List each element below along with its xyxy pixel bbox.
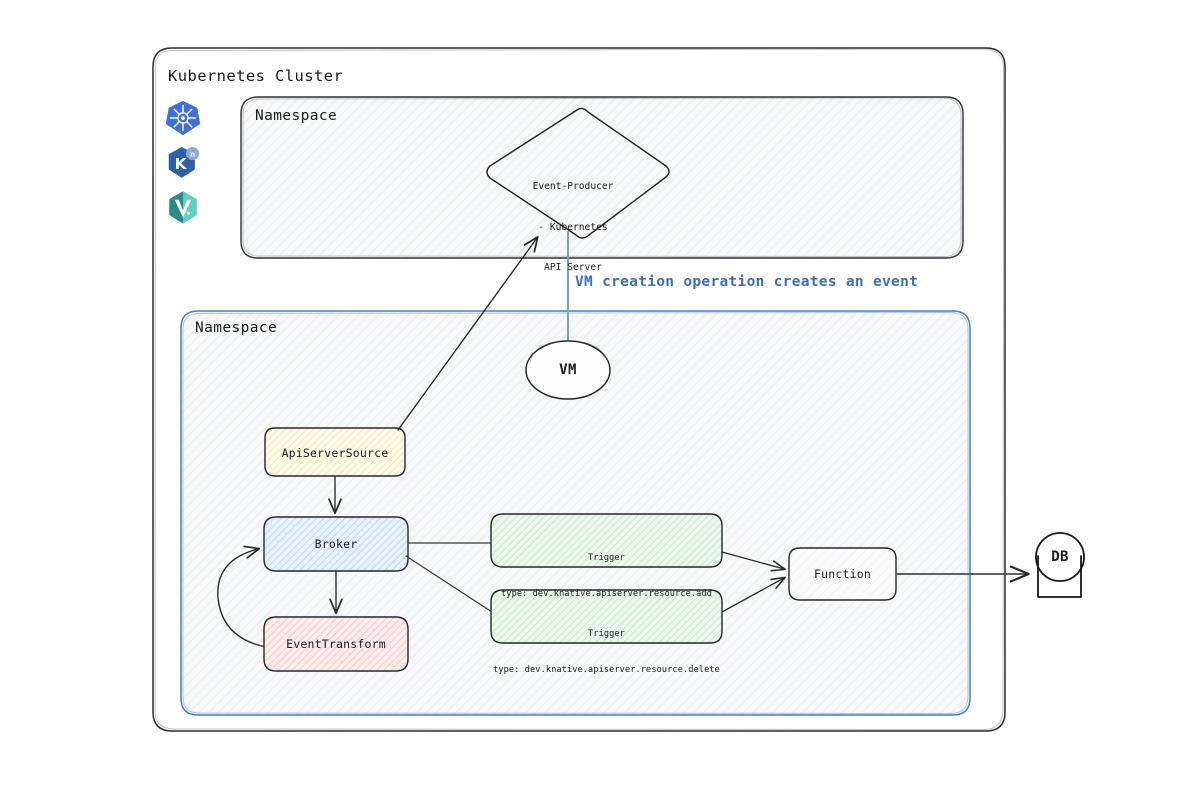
knative-badge: n xyxy=(190,149,195,158)
edge-eventtransform-to-broker xyxy=(218,549,266,647)
apiserversource-label: ApiServerSource xyxy=(265,446,405,460)
namespace-top-title: Namespace xyxy=(255,108,337,124)
trigger-add-title: Trigger xyxy=(491,552,722,564)
eventtransform-label: EventTransform xyxy=(264,637,408,651)
broker-label: Broker xyxy=(264,537,408,551)
event-producer-line-2: - Kubernetes xyxy=(498,221,648,235)
event-producer-line-3: API Server xyxy=(498,261,648,275)
kubernetes-logo xyxy=(164,99,202,137)
event-producer-line-1: Event-Producer xyxy=(498,180,648,194)
edge-trigger-add-to-function xyxy=(722,552,784,569)
knative-logo: K n xyxy=(164,144,202,182)
trigger-delete-label: Trigger type: dev.knative.apiserver.reso… xyxy=(491,604,722,700)
vm-label: VM xyxy=(526,362,610,378)
diagram-canvas: Kubernetes Cluster Namespace Namespace E… xyxy=(0,0,1185,808)
node-db xyxy=(1036,533,1084,597)
edge-trigger-delete-to-function xyxy=(722,578,784,612)
kubevirt-logo xyxy=(164,189,202,227)
db-label: DB xyxy=(1038,549,1082,565)
cluster-title: Kubernetes Cluster xyxy=(168,67,343,85)
namespace-bottom-title: Namespace xyxy=(195,320,277,336)
edge-broker-to-trigger-delete xyxy=(406,556,492,612)
trigger-delete-type: type: dev.knative.apiserver.resource.del… xyxy=(491,664,722,676)
trigger-add-type: type: dev.knative.apiserver.resource.add xyxy=(491,588,722,600)
knative-letter: K xyxy=(175,155,188,173)
edge-label-vm-creation: VM creation operation creates an event xyxy=(575,274,918,290)
trigger-delete-title: Trigger xyxy=(491,628,722,640)
function-label: Function xyxy=(789,567,896,581)
